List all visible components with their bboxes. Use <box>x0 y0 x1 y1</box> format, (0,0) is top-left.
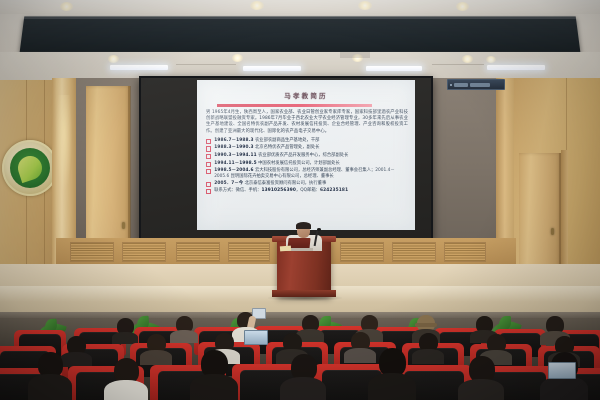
wall-vent-grille <box>122 242 166 262</box>
right-door-handle[interactable] <box>551 228 554 235</box>
speaker-hair <box>296 222 311 229</box>
person-shoulders <box>458 379 504 400</box>
left-door-handle[interactable] <box>122 222 125 229</box>
bullet-text: 1986.7－1988.3 农业部农副商品生产基地处，干部 <box>214 138 319 144</box>
person-shoulders <box>28 374 72 400</box>
square-bullet-icon <box>206 154 211 159</box>
wall-vent-grille <box>444 242 486 262</box>
ceiling-light-tube <box>243 66 301 71</box>
slide-title-underline <box>217 104 372 107</box>
cap-brim-icon <box>415 323 437 327</box>
downlight <box>60 2 73 11</box>
list-item-contact: 联系方式：微信、手机：13910256390，QQ邮箱：624235181 <box>206 188 408 194</box>
person-shoulders <box>368 373 416 400</box>
right-acoustic-wall <box>430 78 500 240</box>
audience-member <box>28 352 72 400</box>
person-shoulders <box>104 380 148 400</box>
person-shoulders <box>190 374 238 400</box>
presentation-slide[interactable]: 马孝教简历 男 1965年4月生，陕西周至人，国家农业部、农业日管创业家专家库专… <box>197 80 415 230</box>
audience-member <box>368 348 416 400</box>
list-item: 1998.5－2004.6 云大科技股份有限公司，总经济师兼副总经理、董事会召集… <box>206 168 408 179</box>
square-bullet-icon <box>206 162 211 167</box>
wall-vent-grille <box>392 242 436 262</box>
wall-vent-grille <box>340 242 384 262</box>
audience-member <box>458 356 504 400</box>
wall-vent-grille <box>176 242 220 262</box>
podium-papers <box>280 246 291 252</box>
player-label-chip[interactable] <box>454 83 468 87</box>
slide-title: 马孝教简历 <box>197 90 415 100</box>
ceiling-seam <box>176 64 236 65</box>
list-item: 1986.7－1988.3 农业部农副商品生产基地处，干部 <box>206 138 408 144</box>
ceiling-slab <box>0 0 600 14</box>
list-item: 1988.3－1990.3 北京名特优农产品管理处，副处长 <box>206 145 408 151</box>
player-label-chip[interactable] <box>470 83 490 87</box>
ceiling-acoustic-panel <box>20 16 581 52</box>
bullet-text: 2005．7－今 北京泰信泰富投资顾问有限公司，执行董事 <box>214 181 326 187</box>
ceiling-seam <box>340 52 370 58</box>
media-player-toolbar[interactable] <box>447 79 505 90</box>
bullet-text: 1994.11－1998.5 中国农村发展信托投资公司，计划部副处长 <box>214 161 340 167</box>
player-status-dot-icon <box>450 84 452 86</box>
ceiling-panel-highlight <box>24 16 576 19</box>
downlight <box>462 55 473 63</box>
list-item: 1994.11－1998.5 中国农村发展信托投资公司，计划部副处长 <box>206 161 408 167</box>
audience-laptop[interactable] <box>548 362 576 379</box>
wall-vent-grille <box>70 242 114 262</box>
auditorium-photo: 马孝教简历 男 1965年4月生，陕西周至人，国家农业部、农业日管创业家专家库专… <box>0 0 600 400</box>
audience-member <box>190 350 238 400</box>
wall-vent-grille <box>228 242 270 262</box>
audience-member <box>104 358 148 400</box>
audience-member <box>112 318 138 342</box>
downlight <box>456 2 469 11</box>
downlight <box>108 55 119 63</box>
audience-member <box>412 333 444 363</box>
audience-member <box>170 316 198 342</box>
slide-bullet-list: 1986.7－1988.3 农业部农副商品生产基地处，干部 1988.3－199… <box>206 138 408 195</box>
bullet-text: 1990.3－1994.11 农业部优质农产品开发服务中心，综合部副处长 <box>214 153 348 159</box>
bullet-text: 1998.5－2004.6 云大科技股份有限公司，总经济师兼副总经理、董事会召集… <box>214 168 408 179</box>
person-shoulders <box>412 349 444 364</box>
list-item: 2005．7－今 北京泰信泰富投资顾问有限公司，执行董事 <box>206 181 408 187</box>
square-bullet-icon <box>206 169 211 174</box>
person-shoulders <box>280 377 326 400</box>
square-bullet-icon <box>206 139 211 144</box>
slide-body: 男 1965年4月生，陕西周至人，国家农业部、农业日管创业家专家库专家，国家科技… <box>206 110 408 196</box>
ceiling-light-tube <box>110 65 168 70</box>
ceiling-light-tube <box>487 65 545 70</box>
ceiling-light-tube <box>366 66 422 71</box>
audience-laptop[interactable] <box>244 330 268 345</box>
downlight <box>250 1 264 10</box>
downlight <box>486 56 496 63</box>
square-bullet-icon <box>206 182 211 187</box>
downlight <box>232 54 243 62</box>
square-bullet-icon <box>206 189 211 194</box>
pillar-wall-light-glow <box>56 95 72 191</box>
slide-paragraph: 男 1965年4月生，陕西周至人，国家农业部、农业日管创业家专家库专家，国家科技… <box>206 110 408 135</box>
bullet-text: 1988.3－1990.3 北京名特优农产品管理处，副处长 <box>214 145 319 151</box>
emblem-ring <box>2 140 58 196</box>
list-item: 1990.3－1994.11 农业部优质农产品开发服务中心，综合部副处长 <box>206 153 408 159</box>
contact-text: 联系方式：微信、手机：13910256390，QQ邮箱：624235181 <box>214 188 348 194</box>
audience-member <box>280 354 326 400</box>
microphone-head-icon <box>317 228 321 231</box>
person-shoulders <box>170 330 198 343</box>
podium-base <box>272 290 336 297</box>
ceiling-seam <box>432 64 484 65</box>
downlight <box>358 1 372 10</box>
square-bullet-icon <box>206 146 211 151</box>
person-shoulders <box>540 376 588 400</box>
